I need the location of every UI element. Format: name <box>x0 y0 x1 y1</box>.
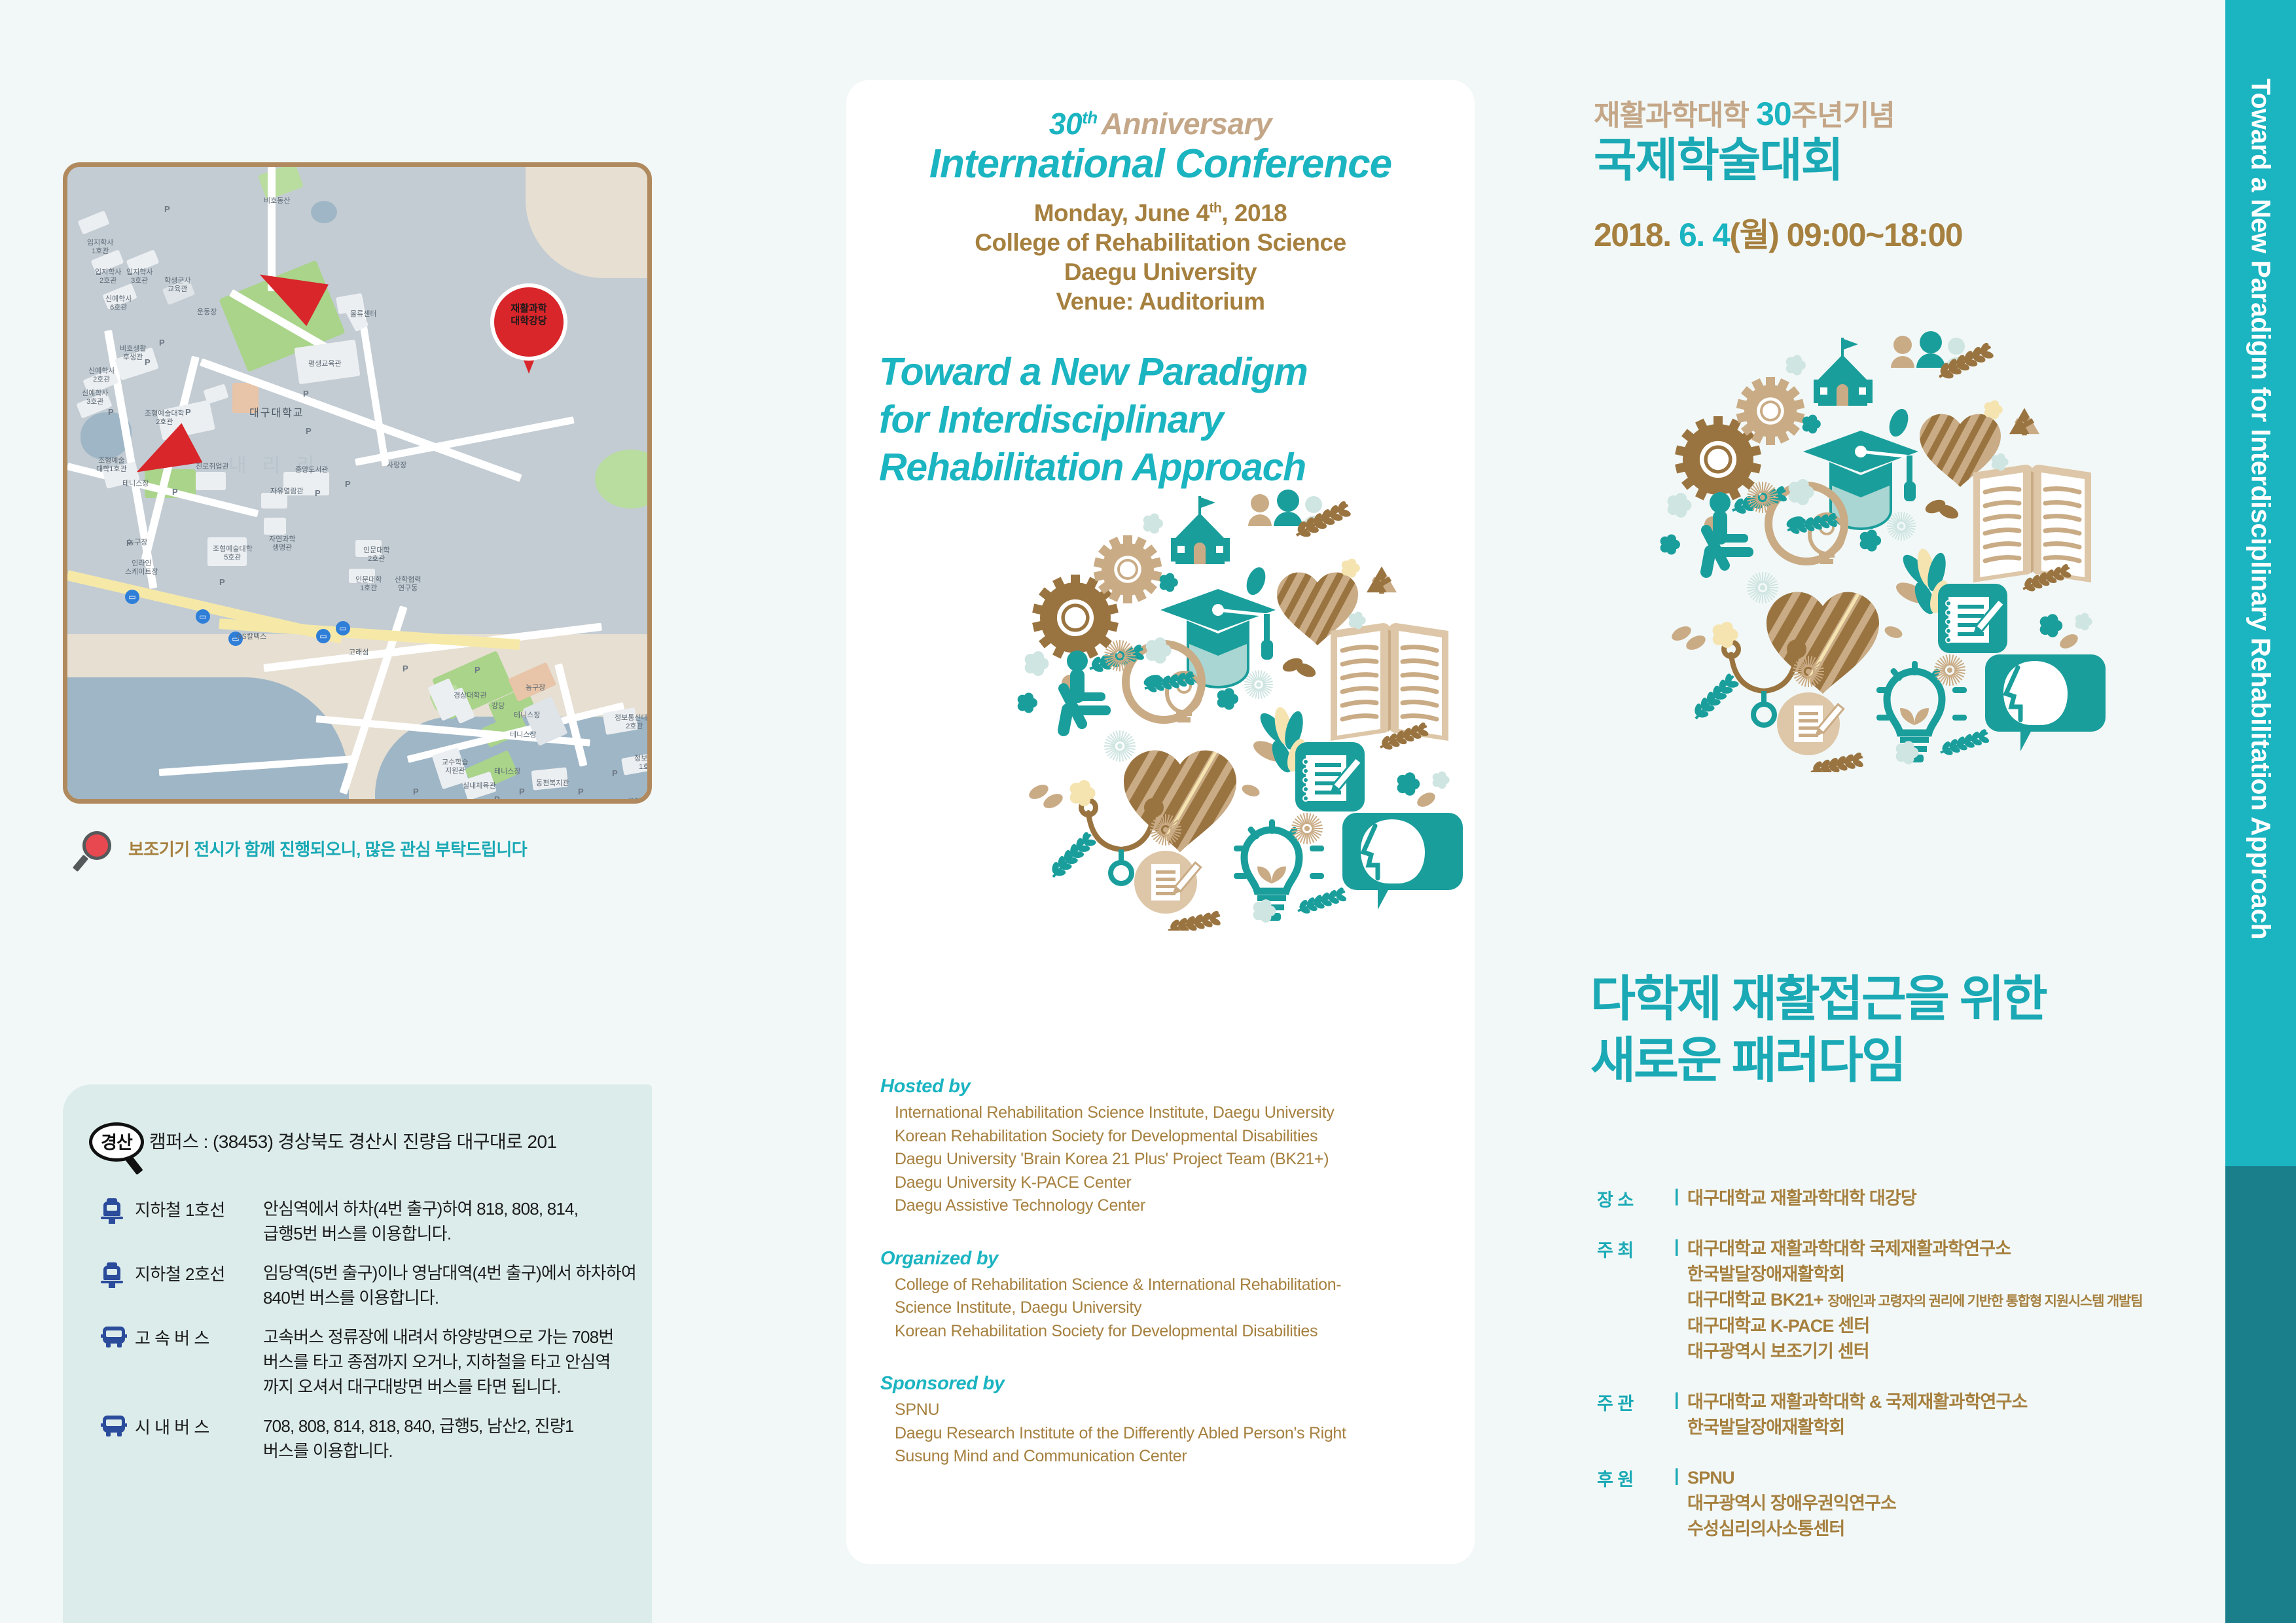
middle-header: 30thAnniversary International Conference… <box>846 106 1475 317</box>
conference-theme-line: Toward a New Paradigm <box>879 348 1455 396</box>
magnifier-handle <box>73 855 88 872</box>
map-pin-label: 재활과학 대학강당 <box>490 303 567 328</box>
direction-description: 고속버스 정류장에 내려서 하양방면으로 가는 708번버스를 타고 종점까지 … <box>263 1325 646 1400</box>
korean-detail-value: 한국발달장애재활학회 <box>1687 1415 2225 1440</box>
map-building-label: 강당 <box>492 702 505 711</box>
map-building-label: 테니스장 <box>122 480 149 488</box>
map-parking-icon: P <box>219 578 225 588</box>
conference-date-sup: th <box>1210 201 1222 216</box>
map-parking-icon: P <box>403 664 408 674</box>
korean-anniv-post: 주년기념 <box>1791 99 1895 132</box>
map-building-label: 테니스장 <box>494 768 520 776</box>
direction-description-line: 버스를 타고 종점까지 오거나, 지하철을 타고 안심역 <box>263 1350 646 1375</box>
organizations-section: Hosted byInternational Rehabilitation Sc… <box>880 1076 1456 1499</box>
brochure-page: ▭ ▭ ▭ ▭ ▭ 내 리 리 대구대학교 비호동산입지학사 1호관입지학사 2… <box>0 0 2296 1623</box>
organization-item: Daegu Assistive Technology Center <box>880 1194 1456 1218</box>
map-building-label: 운동장 <box>197 308 217 317</box>
direction-description-line: 고속버스 정류장에 내려서 하양방면으로 가는 708번 <box>263 1325 646 1350</box>
korean-detail-row: 장 소|대구대학교 재활과학대학 대강당 <box>1597 1186 2225 1211</box>
map-building-label: 입지학사 1호관 <box>87 239 113 255</box>
spine-text-wrap: Toward a New Paradigm for Interdisciplin… <box>2225 0 2296 1166</box>
map-building-label: 진로취업관 <box>196 463 229 471</box>
korean-detail-value: 대구대학교 재활과학대학 & 국제재활과학연구소 <box>1687 1389 2225 1415</box>
direction-mode-label: 시 내 버 스 <box>135 1414 259 1438</box>
bus-icon <box>101 1327 127 1353</box>
korean-date-teal: 6. 4 <box>1679 217 1729 253</box>
map-parking-icon: P <box>494 795 500 804</box>
subway-icon <box>101 1198 127 1224</box>
spine-strip: Toward a New Paradigm for Interdisciplin… <box>2225 0 2296 1623</box>
conference-college: College of Rehabilitation Science <box>846 228 1475 257</box>
korean-main-title: 국제학술대회 <box>1594 136 2183 187</box>
conference-title: International Conference <box>846 143 1475 185</box>
direction-mode-label: 지하철 1호선 <box>135 1197 259 1221</box>
conference-date-post: , 2018 <box>1221 200 1287 226</box>
conference-university: Daegu University <box>846 257 1475 287</box>
exhibition-note-brown: 보조기기 <box>128 840 190 859</box>
korean-detail-value: 대구대학교 재활과학대학 대강당 <box>1687 1186 2225 1211</box>
map-parking-icon: P <box>108 408 114 418</box>
korean-detail-separator: | <box>1674 1236 1687 1364</box>
map-building-label: 물류센터 <box>350 310 376 319</box>
korean-detail-row: 주 최|대구대학교 재활과학대학 국제재활과학연구소한국발달장애재활학회대구대학… <box>1597 1236 2225 1364</box>
map-parking-icon: P <box>159 338 165 348</box>
direction-description-line: 708, 808, 814, 818, 840, 급행5, 남산2, 진량1 <box>263 1414 646 1439</box>
organization-item: Korean Rehabilitation Society for Develo… <box>880 1320 1456 1344</box>
map-building-label: 테니스장 <box>514 711 540 720</box>
exhibition-note-teal: 전시가 함께 진행되오니, 많은 관심 부탁드립니다 <box>194 840 527 859</box>
korean-date-line: 2018. 6. 4(월) 09:00~18:00 <box>1594 209 2183 256</box>
direction-description-line: 급행5번 버스를 이용합니다. <box>263 1222 646 1247</box>
magnifier-icon <box>76 831 117 872</box>
conference-meta: Monday, June 4th, 2018 College of Rehabi… <box>846 198 1475 317</box>
spine-bottom-band <box>2225 1166 2296 1623</box>
campus-badge: 경산 <box>89 1122 144 1162</box>
organization-item: Korean Rehabilitation Society for Develo… <box>880 1125 1456 1149</box>
korean-detail-value: 대구대학교 BK21+ 장애인과 고령자의 권리에 기반한 통합형 지원시스템 … <box>1687 1287 2225 1313</box>
organization-heading: Hosted by <box>880 1076 1456 1097</box>
anniversary-number: 30 <box>1049 107 1082 141</box>
organization-block: Organized byCollege of Rehabilitation Sc… <box>880 1248 1456 1344</box>
illustration-collage-right <box>1633 314 2130 772</box>
map-parking-icon: P <box>164 205 170 215</box>
map-parking-icon: P <box>315 489 321 499</box>
organization-item: College of Rehabilitation Science & Inte… <box>880 1274 1456 1297</box>
korean-detail-row: 후 원|SPNU대구광역시 장애우권익연구소수성심리의사소통센터 <box>1597 1465 2225 1542</box>
exhibition-note-text: 보조기기 전시가 함께 진행되오니, 많은 관심 부탁드립니다 <box>128 836 527 861</box>
map-building-label: 공학2호관 <box>628 798 652 804</box>
korean-header: 재활과학대학 30주년기념 국제학술대회 2018. 6. 4(월) 09:00… <box>1594 92 2183 256</box>
organization-item: Daegu University 'Brain Korea 21 Plus' P… <box>880 1148 1456 1171</box>
map-building-label: 중앙도서관 <box>295 466 329 474</box>
organization-item: International Rehabilitation Science Ins… <box>880 1101 1456 1125</box>
korean-detail-values: SPNU대구광역시 장애우권익연구소수성심리의사소통센터 <box>1687 1465 2225 1542</box>
anniversary-sup: th <box>1082 108 1098 128</box>
map-building-label: 고래섬 <box>349 649 368 657</box>
map-building-label: 학생군사 교육관 <box>164 277 190 293</box>
map-building-label: 비호동산 <box>264 197 290 205</box>
direction-description-line: 버스를 이용합니다. <box>263 1439 646 1464</box>
korean-detail-separator: | <box>1674 1389 1687 1440</box>
korean-detail-values: 대구대학교 재활과학대학 국제재활과학연구소한국발달장애재활학회대구대학교 BK… <box>1687 1236 2225 1364</box>
korean-headline: 다학제 재활접근을 위한새로운 패러다임 <box>1590 969 2206 1092</box>
exhibition-note: 보조기기 전시가 함께 진행되오니, 많은 관심 부탁드립니다 <box>76 830 665 876</box>
map-parking-icon: P <box>145 358 151 368</box>
direction-description: 708, 808, 814, 818, 840, 급행5, 남산2, 진량1버스… <box>263 1414 646 1464</box>
korean-detail-value: 한국발달장애재활학회 <box>1687 1262 2225 1287</box>
campus-map[interactable]: ▭ ▭ ▭ ▭ ▭ 내 리 리 대구대학교 비호동산입지학사 1호관입지학사 2… <box>63 162 652 804</box>
conference-venue: Venue: Auditorium <box>846 287 1475 316</box>
map-building-label: 신예학사 2호관 <box>88 367 115 383</box>
map-building-label: 인문대학 1호관 <box>355 576 382 592</box>
map-building-label: 산학협력 연구동 <box>395 576 421 592</box>
direction-description-line: 840번 버스를 이용합니다. <box>263 1286 646 1311</box>
map-canvas: ▭ ▭ ▭ ▭ ▭ 내 리 리 대구대학교 비호동산입지학사 1호관입지학사 2… <box>67 167 647 799</box>
map-building-label: 입지학사 3호관 <box>126 268 152 285</box>
conference-date-pre: Monday, June 4 <box>1034 200 1210 226</box>
korean-detail-value: 수성심리의사소통센터 <box>1687 1516 2225 1542</box>
map-building-label: 정보통신 1호관 <box>634 755 652 771</box>
map-building-label: 동편복지관 <box>536 779 569 788</box>
map-building-label: 조형예술대학 5호관 <box>213 545 253 562</box>
korean-detail-value: 대구대학교 K-PACE 센터 <box>1687 1313 2225 1339</box>
korean-detail-key: 주 최 <box>1597 1236 1674 1364</box>
conference-theme-line: for Interdisciplinary <box>879 396 1455 444</box>
organization-heading: Sponsored by <box>880 1373 1456 1395</box>
map-building-label: GS칼텍스 <box>236 633 266 641</box>
subway-icon <box>101 1262 127 1289</box>
map-parking-icon: P <box>185 408 191 418</box>
illustration-collage-middle <box>990 473 1488 931</box>
campus-address-text: 캠퍼스 : (38453) 경상북도 경산시 진량읍 대구대로 201 <box>149 1128 556 1154</box>
map-building-label: 인라인 스케이트장 <box>125 560 158 576</box>
map-parking-icon: P <box>612 769 618 779</box>
organization-item: Science Institute, Daegu University <box>880 1296 1456 1320</box>
map-bldg <box>264 518 286 535</box>
korean-details: 장 소|대구대학교 재활과학대학 대강당주 최|대구대학교 재활과학대학 국제재… <box>1597 1186 2225 1567</box>
map-building-label: 신예학사 6호관 <box>105 295 132 312</box>
map-building-label: 교수학습 지원관 <box>442 758 468 775</box>
korean-headline-line: 다학제 재활접근을 위한 <box>1590 969 2206 1030</box>
anniversary-line: 30thAnniversary <box>846 106 1475 141</box>
left-panel: ▭ ▭ ▭ ▭ ▭ 내 리 리 대구대학교 비호동산입지학사 1호관입지학사 2… <box>0 0 821 1623</box>
map-building-label: 평생교육관 <box>308 360 342 368</box>
education-rehabilitation-icon-collage <box>990 473 1488 931</box>
organization-heading: Organized by <box>880 1248 1456 1270</box>
korean-detail-row: 주 관|대구대학교 재활과학대학 & 국제재활과학연구소한국발달장애재활학회 <box>1597 1389 2225 1440</box>
campus-address-line: 경산 캠퍼스 : (38453) 경상북도 경산시 진량읍 대구대로 201 <box>89 1122 632 1175</box>
bus-icon <box>101 1416 127 1442</box>
organization-item: Daegu University K-PACE Center <box>880 1171 1456 1195</box>
korean-detail-key: 주 관 <box>1597 1389 1674 1440</box>
korean-anniversary-line: 재활과학대학 30주년기념 <box>1594 92 2183 134</box>
organization-block: Sponsored bySPNUDaegu Research Institute… <box>880 1373 1456 1469</box>
direction-mode-label: 지하철 2호선 <box>135 1261 259 1285</box>
map-building-label: 비호생활 후생관 <box>120 345 146 361</box>
direction-description-line: 임당역(5번 출구)이나 영남대역(4번 출구)에서 하차하여 <box>263 1261 646 1286</box>
map-building-label: 조형예술대학 2호관 <box>145 410 185 426</box>
map-bldg <box>196 472 226 490</box>
spine-text: Toward a New Paradigm for Interdisciplin… <box>2246 79 2276 939</box>
right-panel: 재활과학대학 30주년기념 국제학술대회 2018. 6. 4(월) 09:00… <box>1505 0 2219 1623</box>
map-bus-stop: ▭ <box>336 621 350 635</box>
conference-theme: Toward a New Paradigmfor Interdisciplina… <box>879 348 1455 491</box>
map-building-label: 사랑장 <box>387 461 406 470</box>
map-bus-stop: ▭ <box>316 629 331 643</box>
directions-box: 경산 캠퍼스 : (38453) 경상북도 경산시 진량읍 대구대로 201 지… <box>63 1084 652 1623</box>
korean-headline-line: 새로운 패러다임 <box>1590 1030 2206 1092</box>
korean-detail-separator: | <box>1674 1186 1687 1211</box>
education-rehabilitation-icon-collage <box>1633 314 2130 772</box>
map-building-label: 인문대학 2호관 <box>363 546 389 563</box>
map-pond-north <box>311 201 337 223</box>
map-bus-stop: ▭ <box>125 590 139 604</box>
korean-detail-separator: | <box>1674 1465 1687 1542</box>
map-parking-icon: P <box>345 480 351 490</box>
map-parking-icon: P <box>413 787 419 797</box>
map-building-label: 정보통신대학 2호관 <box>615 714 652 730</box>
map-bus-stop: ▭ <box>196 609 210 624</box>
korean-detail-value: 대구광역시 장애우권익연구소 <box>1687 1491 2225 1516</box>
korean-detail-value: 대구대학교 재활과학대학 국제재활과학연구소 <box>1687 1236 2225 1262</box>
map-building-label: 조형예술 대학1호관 <box>96 457 127 473</box>
korean-detail-values: 대구대학교 재활과학대학 대강당 <box>1687 1186 2225 1211</box>
map-building-label: 경상대학관 <box>454 692 487 700</box>
direction-description: 임당역(5번 출구)이나 영남대역(4번 출구)에서 하차하여840번 버스를 … <box>263 1261 646 1311</box>
organization-item: SPNU <box>880 1399 1456 1422</box>
map-parking-icon: P <box>172 488 178 497</box>
korean-anniv-pre: 재활과학대학 <box>1594 99 1749 132</box>
middle-panel: 30thAnniversary International Conference… <box>846 80 1475 1564</box>
map-parking-icon: P <box>303 389 309 399</box>
korean-date-pre: 2018. <box>1594 217 1671 253</box>
organization-block: Hosted byInternational Rehabilitation Sc… <box>880 1076 1456 1218</box>
korean-detail-key: 장 소 <box>1597 1186 1674 1211</box>
map-parking-icon: P <box>578 787 584 797</box>
map-center-label: 대구대학교 <box>249 408 304 419</box>
map-parking-icon: P <box>126 539 132 548</box>
map-pin-venue[interactable]: 재활과학 대학강당 <box>490 283 567 375</box>
korean-detail-values: 대구대학교 재활과학대학 & 국제재활과학연구소한국발달장애재활학회 <box>1687 1389 2225 1440</box>
map-building-label: 입지학사 2호관 <box>95 268 121 285</box>
map-building-label: 테니스장 <box>510 731 536 740</box>
direction-description: 안심역에서 하차(4번 출구)하여 818, 808, 814,급행5번 버스를… <box>263 1197 646 1247</box>
map-parking-icon: P <box>519 787 525 797</box>
map-building-label: 농구장 <box>526 684 545 692</box>
anniversary-word: Anniversary <box>1102 107 1272 141</box>
map-building-label: 자유열람관 <box>270 488 304 496</box>
organization-item: Daegu Research Institute of the Differen… <box>880 1422 1456 1446</box>
korean-anniv-number: 30 <box>1756 96 1791 132</box>
korean-detail-value-small: 장애인과 고령자의 권리에 기반한 통합형 지원시스템 개발팀 <box>1827 1294 2142 1309</box>
korean-detail-value: SPNU <box>1687 1465 2225 1491</box>
magnifier-lens <box>82 831 111 860</box>
organization-item: Susung Mind and Communication Center <box>880 1445 1456 1469</box>
korean-detail-value: 대구광역시 보조기기 센터 <box>1687 1339 2225 1364</box>
map-parking-icon: P <box>306 427 312 437</box>
map-building-label: 자연과학 생명관 <box>269 535 295 552</box>
direction-mode-label: 고 속 버 스 <box>135 1325 259 1349</box>
direction-description-line: 안심역에서 하차(4번 출구)하여 818, 808, 814, <box>263 1197 646 1222</box>
korean-detail-key: 후 원 <box>1597 1465 1674 1542</box>
korean-date-post: (월) 09:00~18:00 <box>1729 217 1962 253</box>
map-building-label: 신예학사 3호관 <box>82 389 108 406</box>
map-parking-icon: P <box>475 666 480 675</box>
direction-description-line: 까지 오셔서 대구대방면 버스를 타면 됩니다. <box>263 1375 646 1400</box>
conference-date: Monday, June 4th, 2018 <box>846 198 1475 228</box>
map-building-label: 실내체육관 <box>463 782 496 791</box>
